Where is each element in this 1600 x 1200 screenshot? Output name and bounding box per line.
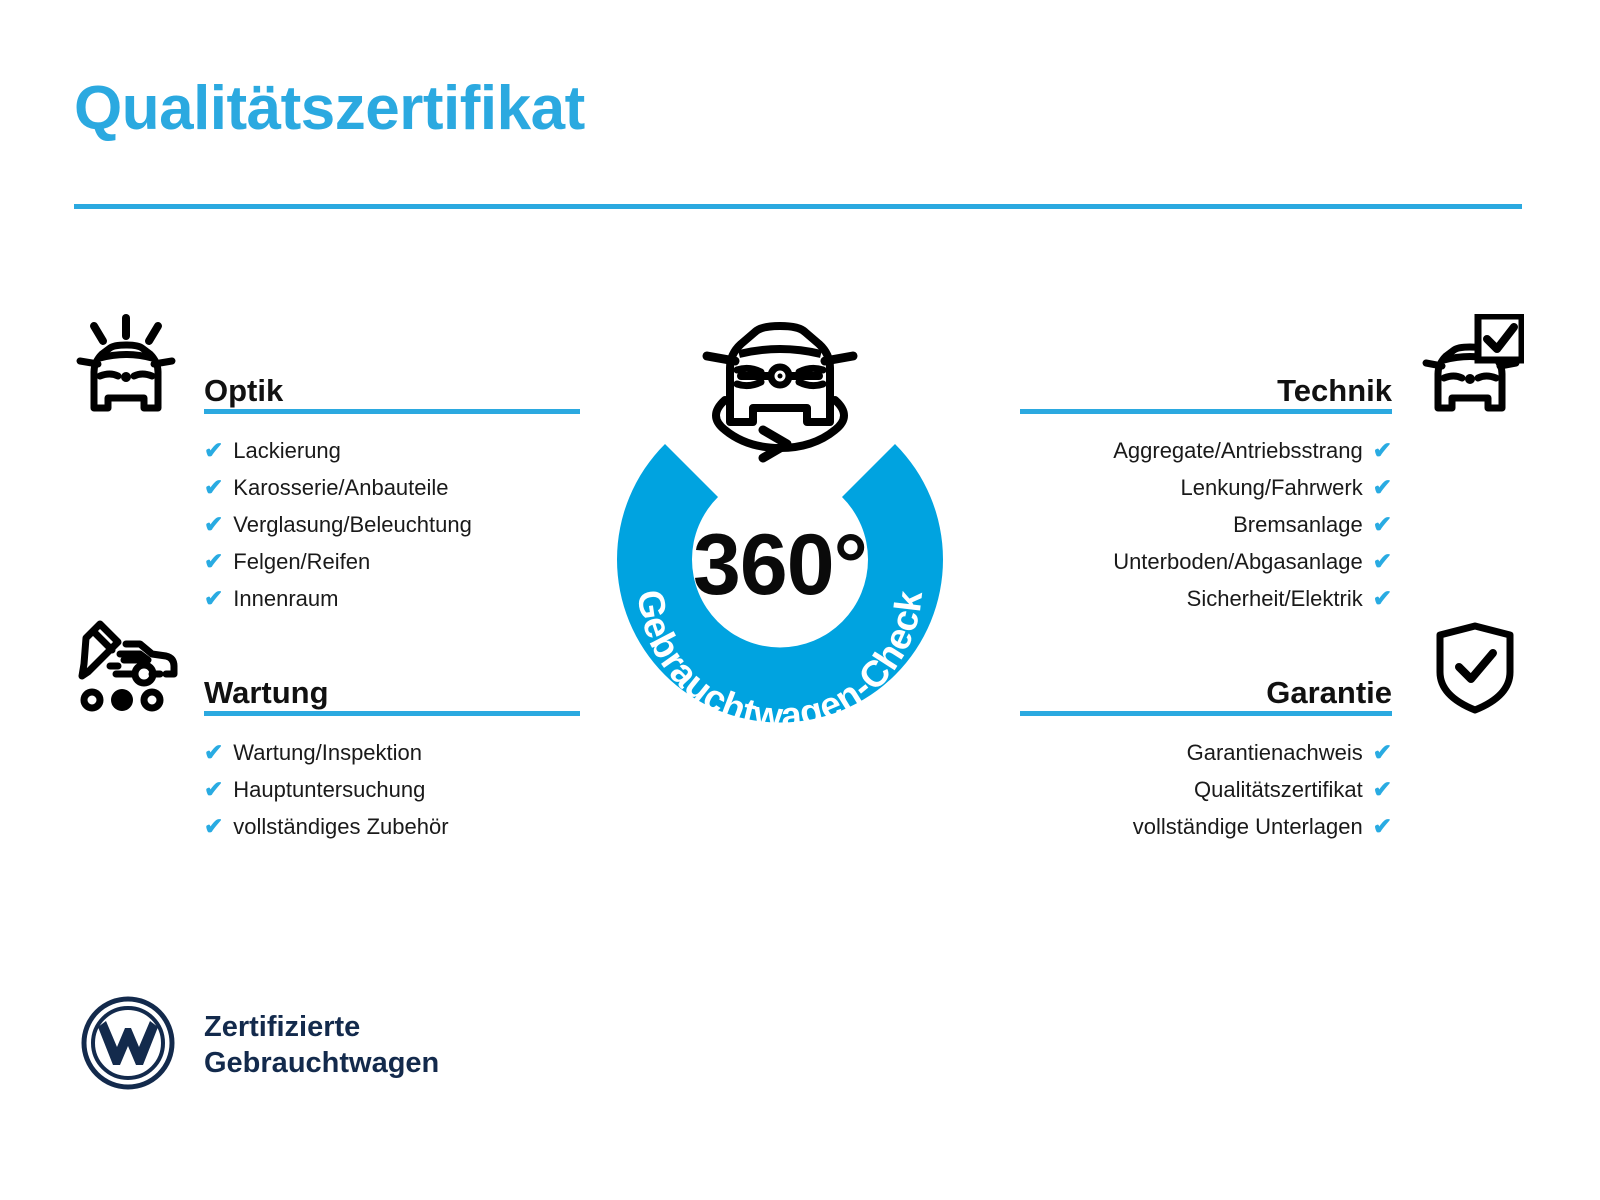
list-item: ✔Innenraum	[204, 580, 580, 617]
list-item: ✔Karosserie/Anbauteile	[204, 469, 580, 506]
list-item: Lenkung/Fahrwerk✔	[1020, 469, 1392, 506]
section-wartung-title: Wartung	[204, 677, 329, 708]
list-item: ✔Hauptuntersuchung	[204, 771, 580, 808]
list-item: ✔Lackierung	[204, 432, 580, 469]
list-item-label: Verglasung/Beleuchtung	[233, 506, 472, 543]
car-service-pencil-icon	[74, 616, 178, 717]
check-icon: ✔	[1373, 550, 1392, 573]
section-technik-title: Technik	[1277, 375, 1392, 406]
check-icon: ✔	[1373, 587, 1392, 610]
section-wartung-divider	[204, 711, 580, 716]
list-item-label: vollständige Unterlagen	[1133, 808, 1363, 845]
check-icon: ✔	[1373, 741, 1392, 764]
section-technik: Technik Aggregate/Antriebsstrang✔ Lenkun…	[1020, 358, 1522, 617]
section-garantie-list: Garantienachweis✔ Qualitätszertifikat✔ v…	[1020, 734, 1392, 845]
section-technik-list: Aggregate/Antriebsstrang✔ Lenkung/Fahrwe…	[1020, 432, 1392, 617]
section-wartung-list: ✔Wartung/Inspektion ✔Hauptuntersuchung ✔…	[204, 734, 580, 845]
check-icon: ✔	[204, 815, 223, 838]
list-item-label: Qualitätszertifikat	[1194, 771, 1363, 808]
section-optik-list: ✔Lackierung ✔Karosserie/Anbauteile ✔Verg…	[204, 432, 580, 617]
list-item: ✔Felgen/Reifen	[204, 543, 580, 580]
section-wartung-header: Wartung	[74, 660, 580, 716]
list-item: ✔Verglasung/Beleuchtung	[204, 506, 580, 543]
list-item-label: Wartung/Inspektion	[233, 734, 422, 771]
section-garantie: Garantie Garantienachweis✔ Qualitätszert…	[1020, 660, 1522, 845]
footer-brand-text: Zertifizierte Gebrauchtwagen	[204, 1010, 439, 1081]
list-item-label: Sicherheit/Elektrik	[1187, 580, 1363, 617]
volkswagen-logo-icon	[80, 995, 176, 1096]
section-garantie-divider	[1020, 711, 1392, 716]
section-optik-divider	[204, 409, 580, 414]
section-garantie-title: Garantie	[1266, 677, 1392, 708]
check-icon: ✔	[1373, 778, 1392, 801]
check-icon: ✔	[1373, 513, 1392, 536]
check-icon: ✔	[204, 741, 223, 764]
list-item: vollständige Unterlagen✔	[1020, 808, 1392, 845]
list-item-label: Lackierung	[233, 432, 341, 469]
section-technik-divider	[1020, 409, 1392, 414]
check-icon: ✔	[204, 778, 223, 801]
check-icon: ✔	[204, 587, 223, 610]
car-checkbox-icon	[1420, 314, 1524, 419]
list-item: Sicherheit/Elektrik✔	[1020, 580, 1392, 617]
title-divider	[74, 204, 1522, 209]
footer-line-1: Zertifizierte	[204, 1011, 360, 1043]
shield-check-icon	[1432, 620, 1518, 721]
list-item-label: Bremsanlage	[1233, 506, 1363, 543]
list-item-label: Felgen/Reifen	[233, 543, 370, 580]
section-wartung: Wartung ✔Wartung/Inspektion ✔Hauptunters…	[74, 660, 580, 845]
list-item-label: Karosserie/Anbauteile	[233, 469, 448, 506]
list-item: Qualitätszertifikat✔	[1020, 771, 1392, 808]
check-icon: ✔	[204, 550, 223, 573]
list-item: Bremsanlage✔	[1020, 506, 1392, 543]
section-garantie-header: Garantie	[1020, 660, 1522, 716]
badge-number: 360°	[570, 522, 990, 608]
section-technik-header: Technik	[1020, 358, 1522, 414]
check-icon: ✔	[204, 476, 223, 499]
footer-line-2: Gebrauchtwagen	[204, 1047, 439, 1079]
section-optik-title: Optik	[204, 375, 283, 406]
list-item: Unterboden/Abgasanlage✔	[1020, 543, 1392, 580]
check-icon: ✔	[1373, 815, 1392, 838]
check-icon: ✔	[204, 513, 223, 536]
check-icon: ✔	[1373, 476, 1392, 499]
car-shine-icon	[72, 314, 180, 419]
list-item-label: Innenraum	[233, 580, 338, 617]
car-front-rotate-icon	[685, 304, 875, 469]
list-item-label: vollständiges Zubehör	[233, 808, 448, 845]
check-icon: ✔	[1373, 439, 1392, 462]
certificate-page: Qualitätszertifikat	[0, 0, 1600, 1200]
list-item: Garantienachweis✔	[1020, 734, 1392, 771]
list-item: ✔Wartung/Inspektion	[204, 734, 580, 771]
list-item-label: Lenkung/Fahrwerk	[1181, 469, 1363, 506]
list-item: ✔vollständiges Zubehör	[204, 808, 580, 845]
list-item-label: Garantienachweis	[1187, 734, 1363, 771]
list-item-label: Hauptuntersuchung	[233, 771, 425, 808]
badge-360-check: Gebrauchtwagen-Check 360°	[570, 376, 990, 796]
section-optik-header: Optik	[74, 358, 580, 414]
section-optik: Optik ✔Lackierung ✔Karosserie/Anbauteile…	[74, 358, 580, 617]
list-item-label: Unterboden/Abgasanlage	[1113, 543, 1363, 580]
list-item: Aggregate/Antriebsstrang✔	[1020, 432, 1392, 469]
list-item-label: Aggregate/Antriebsstrang	[1113, 432, 1363, 469]
check-icon: ✔	[204, 439, 223, 462]
footer-brand: Zertifizierte Gebrauchtwagen	[80, 995, 439, 1096]
page-title: Qualitätszertifikat	[74, 78, 585, 140]
